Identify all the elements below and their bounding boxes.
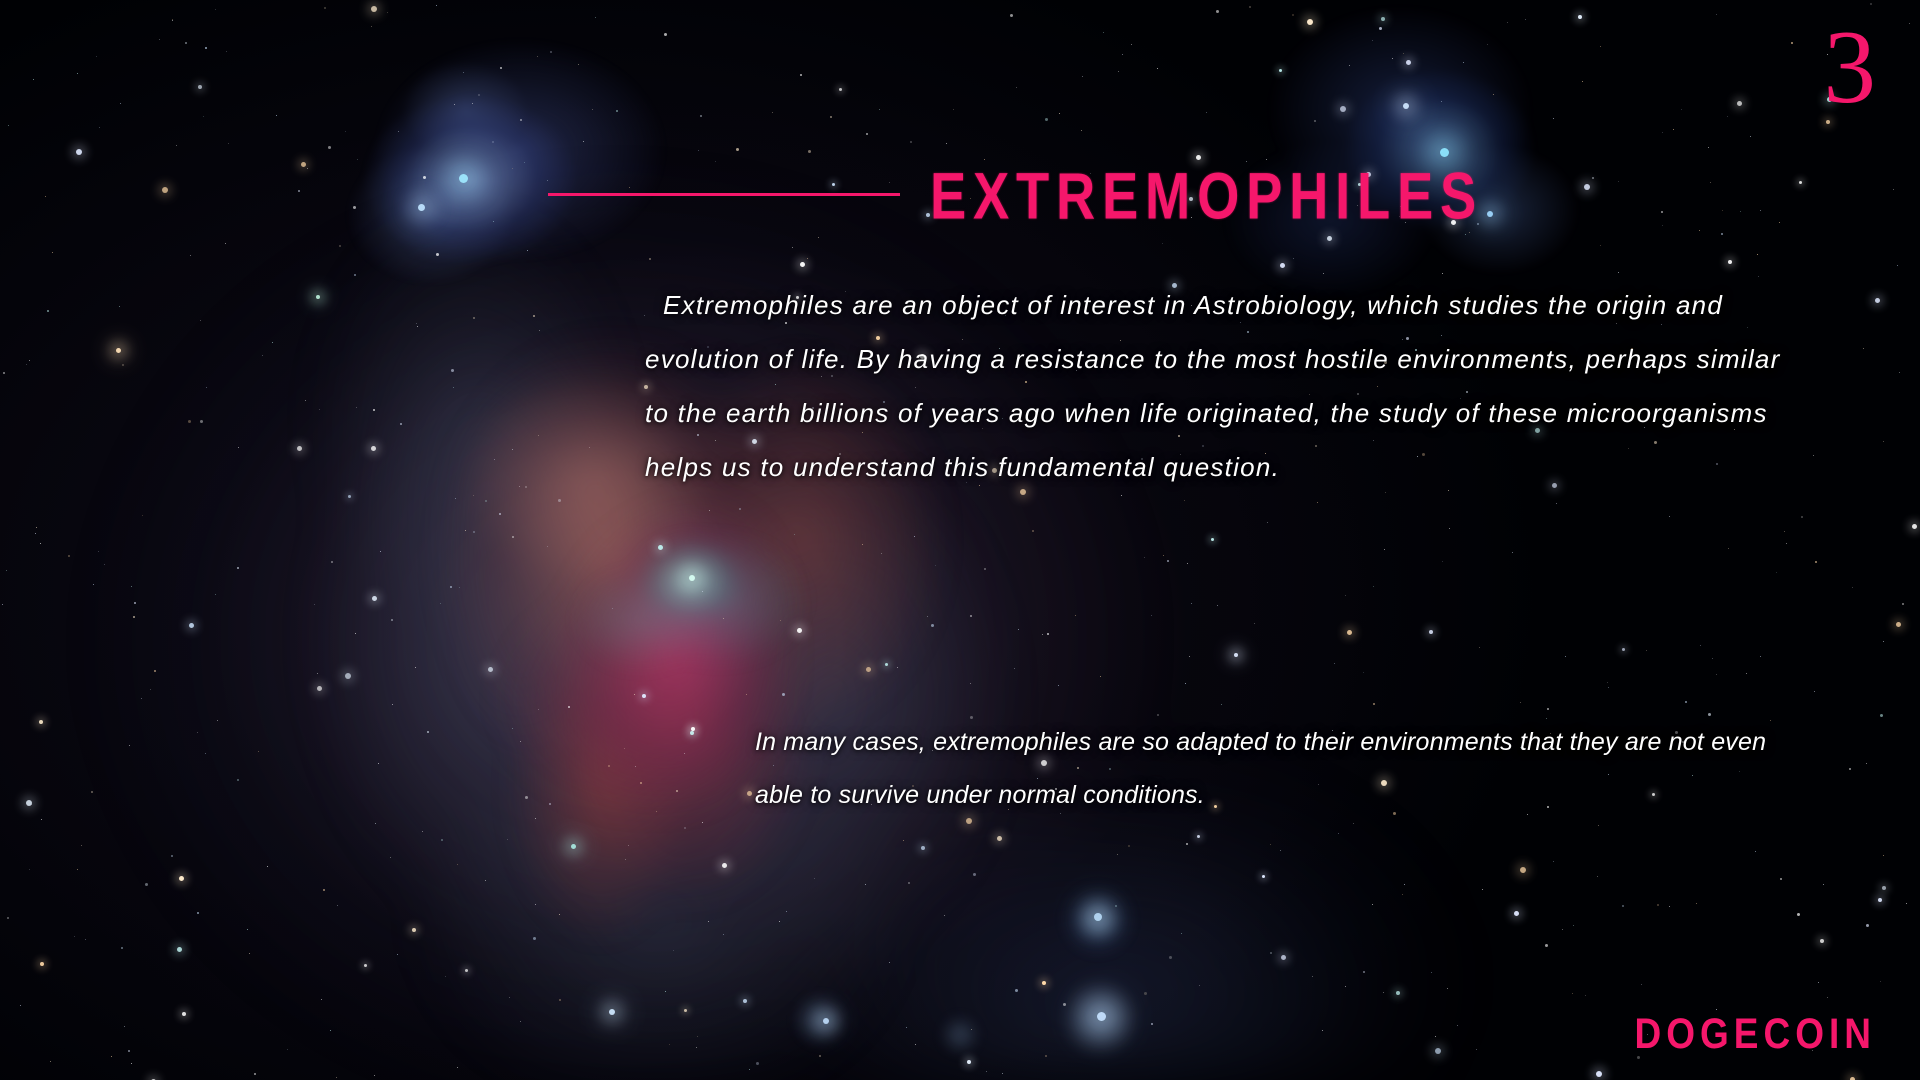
star	[238, 447, 239, 448]
star	[592, 109, 593, 110]
star	[807, 258, 808, 259]
star	[205, 47, 207, 49]
bright-star	[371, 446, 376, 451]
star	[249, 953, 250, 954]
star	[628, 845, 629, 846]
page-number: 3	[1824, 14, 1877, 119]
star	[1447, 988, 1448, 989]
star	[357, 159, 358, 160]
star	[1014, 668, 1015, 669]
star	[1280, 850, 1281, 851]
star	[780, 620, 781, 621]
star	[1681, 109, 1682, 110]
star	[908, 882, 910, 884]
star	[1131, 44, 1132, 45]
star	[1585, 995, 1586, 996]
star	[537, 56, 538, 57]
star	[93, 584, 94, 585]
bright-star	[1042, 981, 1046, 985]
bright-star	[1578, 15, 1582, 19]
star	[119, 306, 120, 307]
star	[499, 513, 501, 515]
star	[203, 116, 204, 117]
star	[436, 253, 439, 256]
bright-star	[1622, 648, 1625, 651]
star	[371, 26, 372, 27]
star	[1349, 65, 1350, 66]
star	[1780, 878, 1782, 880]
star	[1373, 586, 1374, 587]
star	[3, 372, 5, 374]
star	[786, 911, 787, 912]
bright-star	[1520, 867, 1526, 873]
star	[374, 1075, 375, 1076]
star	[792, 247, 793, 248]
bright-star	[1262, 875, 1265, 878]
star	[1760, 656, 1761, 657]
star	[1010, 14, 1013, 17]
star	[525, 486, 527, 488]
star	[1383, 992, 1384, 993]
bright-star	[1584, 184, 1590, 190]
star	[1267, 522, 1268, 523]
star	[547, 546, 548, 547]
beacon-star	[1234, 653, 1238, 657]
star	[779, 921, 780, 922]
star	[197, 912, 199, 914]
slide-canvas: 3 EXTREMOPHILES Extremophiles are an obj…	[0, 0, 1920, 1080]
star	[354, 274, 356, 276]
beacon-star	[571, 844, 576, 849]
star	[440, 603, 441, 604]
star	[520, 119, 522, 121]
star	[1317, 502, 1318, 503]
star	[1457, 1025, 1458, 1026]
star	[1169, 956, 1172, 959]
bright-star	[1912, 524, 1917, 529]
star	[903, 840, 904, 841]
bright-star	[1429, 630, 1433, 634]
star	[206, 387, 207, 388]
star	[172, 20, 173, 21]
star	[512, 449, 513, 450]
star	[558, 499, 561, 502]
star	[473, 531, 475, 533]
beacon-star	[316, 295, 320, 299]
star	[736, 148, 739, 151]
star	[124, 1026, 125, 1027]
star	[550, 51, 552, 53]
star	[1162, 243, 1163, 244]
star	[676, 790, 678, 792]
star	[1545, 944, 1548, 947]
star	[417, 326, 418, 327]
star	[971, 1029, 972, 1030]
star	[589, 447, 590, 448]
star	[1512, 552, 1513, 553]
star	[525, 796, 528, 799]
star	[1797, 913, 1800, 916]
star	[459, 587, 460, 588]
star	[1520, 702, 1521, 703]
star	[1897, 265, 1898, 266]
star	[1646, 650, 1647, 651]
star	[1392, 58, 1393, 59]
star	[317, 673, 318, 674]
star	[1662, 132, 1663, 133]
bright-star	[658, 545, 663, 550]
star	[625, 859, 626, 860]
star	[345, 131, 346, 132]
star	[879, 109, 880, 110]
star	[1493, 94, 1494, 95]
star	[1181, 933, 1182, 934]
star	[931, 624, 934, 627]
star	[1618, 181, 1619, 182]
title-row: EXTREMOPHILES	[0, 168, 1500, 224]
star	[1363, 971, 1365, 973]
star	[1431, 972, 1432, 973]
star	[1553, 861, 1554, 862]
star	[159, 39, 160, 40]
star	[524, 162, 525, 163]
star	[1345, 986, 1346, 987]
star	[509, 997, 510, 998]
bright-star	[921, 846, 925, 850]
star	[1157, 68, 1158, 69]
star	[133, 616, 135, 618]
star	[1402, 894, 1403, 895]
bright-star	[297, 446, 302, 451]
beacon-star	[689, 575, 695, 581]
bright-star	[1279, 69, 1282, 72]
bright-star	[317, 686, 322, 691]
star	[176, 145, 177, 146]
star	[1045, 118, 1048, 121]
star	[398, 131, 399, 132]
star	[1100, 676, 1101, 677]
beacon-star	[609, 1009, 615, 1015]
star	[336, 1077, 337, 1078]
star	[684, 753, 685, 754]
star	[171, 855, 173, 857]
star	[339, 245, 341, 247]
star	[1442, 561, 1443, 562]
bright-star	[1514, 911, 1519, 916]
star	[1814, 691, 1815, 692]
star	[830, 116, 832, 118]
star	[1167, 560, 1169, 562]
star	[1815, 561, 1817, 563]
star	[673, 950, 674, 951]
star	[1081, 130, 1082, 131]
bright-star	[1435, 1048, 1441, 1054]
star	[520, 1021, 521, 1022]
bright-star	[1327, 236, 1332, 241]
star	[1292, 14, 1294, 16]
star	[1755, 851, 1756, 852]
bright-star	[691, 727, 695, 731]
star	[1716, 14, 1717, 15]
body-paragraph-1: Extremophiles are an object of interest …	[645, 278, 1785, 494]
star	[684, 827, 686, 829]
star	[1122, 54, 1123, 55]
star	[649, 258, 651, 260]
star	[1441, 150, 1443, 152]
bright-star	[412, 928, 416, 932]
star	[98, 551, 99, 552]
star	[862, 544, 863, 545]
star	[1657, 904, 1659, 906]
star	[538, 709, 539, 710]
star	[1582, 81, 1583, 82]
star	[441, 839, 443, 841]
star	[1449, 528, 1450, 529]
star	[8, 125, 9, 126]
star	[700, 115, 702, 117]
bright-star	[1737, 101, 1742, 106]
star	[1883, 441, 1884, 442]
star	[1721, 233, 1723, 235]
star	[465, 530, 466, 531]
star	[380, 551, 381, 552]
star	[7, 917, 9, 919]
star	[29, 869, 30, 870]
star	[702, 591, 703, 592]
bright-star	[839, 88, 842, 91]
star	[1818, 982, 1819, 983]
star	[1906, 903, 1907, 904]
star	[1217, 605, 1218, 606]
star	[1163, 555, 1164, 556]
star	[453, 387, 454, 388]
star	[1883, 641, 1884, 642]
star	[1442, 273, 1443, 274]
star	[1435, 1036, 1436, 1037]
bright-star	[1799, 181, 1802, 184]
bright-star	[1340, 106, 1346, 112]
star	[1696, 903, 1697, 904]
star	[205, 753, 206, 754]
star	[68, 555, 70, 557]
star	[77, 73, 78, 74]
star	[669, 1044, 670, 1045]
body-paragraph-2: In many cases, extremophiles are so adap…	[755, 716, 1815, 822]
star	[1206, 112, 1207, 113]
star	[640, 782, 642, 784]
star	[1045, 1055, 1047, 1057]
star	[36, 527, 37, 528]
star	[595, 17, 596, 18]
beacon-star	[1440, 148, 1449, 157]
star	[665, 991, 666, 992]
star	[756, 1062, 759, 1065]
star	[445, 976, 446, 977]
title-rule-decoration	[548, 193, 900, 196]
star	[1353, 823, 1354, 824]
star	[129, 745, 130, 746]
star	[500, 67, 502, 69]
bright-star	[465, 969, 468, 972]
star	[746, 694, 747, 695]
star	[881, 553, 882, 554]
star	[1118, 71, 1119, 72]
star	[436, 5, 437, 6]
bright-star	[1896, 622, 1901, 627]
star	[323, 889, 325, 891]
page-title: EXTREMOPHILES	[930, 163, 1483, 229]
star	[455, 498, 456, 499]
bright-star	[1280, 263, 1285, 268]
star	[697, 1036, 698, 1037]
star	[1404, 884, 1405, 885]
star	[190, 255, 191, 256]
star	[512, 536, 514, 538]
bright-star	[684, 1009, 687, 1012]
star	[1144, 992, 1147, 995]
star	[197, 732, 198, 733]
star	[1216, 10, 1219, 13]
bright-star	[488, 667, 493, 672]
star	[1607, 682, 1608, 683]
star	[1870, 3, 1872, 5]
star	[1379, 27, 1382, 30]
star	[1827, 997, 1828, 998]
star	[944, 915, 945, 916]
star	[478, 94, 480, 96]
beacon-star	[1097, 1012, 1106, 1021]
bright-star	[182, 1012, 186, 1016]
bright-star	[747, 791, 752, 796]
star	[1685, 701, 1687, 703]
star	[507, 839, 508, 840]
star	[772, 112, 773, 113]
star	[1880, 981, 1881, 982]
star	[1185, 683, 1186, 684]
star	[723, 934, 724, 935]
star	[1750, 136, 1751, 137]
star	[818, 237, 819, 238]
beacon-star	[116, 348, 121, 353]
star	[131, 586, 132, 587]
star	[247, 929, 248, 930]
star	[953, 109, 954, 110]
star	[739, 508, 741, 510]
star	[457, 1067, 458, 1068]
star	[356, 407, 357, 408]
star	[400, 423, 402, 425]
star	[1757, 254, 1758, 255]
star	[914, 536, 915, 537]
star	[378, 763, 379, 764]
star	[1144, 557, 1145, 558]
star	[1622, 905, 1624, 907]
star	[535, 904, 536, 905]
star	[415, 667, 416, 668]
bright-star	[371, 6, 377, 12]
star	[485, 500, 487, 502]
star	[1507, 22, 1508, 23]
star	[397, 954, 398, 955]
star	[35, 533, 36, 534]
star	[1270, 952, 1272, 954]
star	[77, 869, 78, 870]
bright-star	[1882, 886, 1886, 890]
bright-star	[1728, 260, 1732, 264]
star	[29, 360, 30, 361]
star	[375, 823, 376, 824]
star	[559, 914, 560, 915]
star	[391, 619, 393, 621]
star	[1322, 1030, 1323, 1031]
star	[1384, 549, 1385, 550]
star	[200, 420, 203, 423]
star	[1059, 113, 1060, 114]
star	[450, 586, 452, 588]
star	[1727, 116, 1728, 117]
star	[272, 342, 273, 343]
star	[142, 515, 143, 516]
bright-star	[39, 720, 43, 724]
bright-star	[198, 85, 202, 89]
star	[305, 400, 306, 401]
star	[1592, 177, 1594, 179]
star	[897, 667, 898, 668]
star	[1479, 647, 1480, 648]
star	[1476, 1049, 1477, 1050]
star	[708, 921, 709, 922]
bright-star	[179, 876, 184, 881]
star	[1608, 687, 1609, 688]
star	[608, 765, 610, 767]
star	[723, 618, 724, 619]
star	[1849, 768, 1851, 770]
star	[1852, 587, 1853, 588]
star	[866, 133, 868, 135]
bright-star	[1197, 835, 1200, 838]
star	[1199, 985, 1200, 986]
star	[1722, 210, 1723, 211]
bright-star	[1211, 538, 1214, 541]
beacon-star	[1403, 103, 1409, 109]
star	[1710, 182, 1711, 183]
star	[141, 698, 142, 699]
star	[1708, 147, 1709, 148]
star	[1700, 645, 1701, 646]
star	[664, 33, 667, 36]
star	[984, 568, 986, 570]
star	[416, 323, 417, 324]
bright-star	[1820, 939, 1824, 943]
star	[287, 1049, 288, 1050]
star	[1784, 531, 1785, 532]
star	[612, 608, 613, 609]
bright-star	[743, 999, 747, 1003]
star	[215, 594, 216, 595]
star	[85, 939, 86, 940]
star	[1899, 372, 1900, 373]
star	[1661, 211, 1663, 213]
star	[1103, 32, 1104, 33]
star	[1254, 623, 1255, 624]
star	[473, 495, 474, 496]
star	[889, 962, 890, 963]
star	[986, 1071, 987, 1072]
star	[696, 1047, 697, 1048]
star	[1801, 516, 1803, 518]
star	[973, 873, 976, 876]
star	[355, 633, 356, 634]
